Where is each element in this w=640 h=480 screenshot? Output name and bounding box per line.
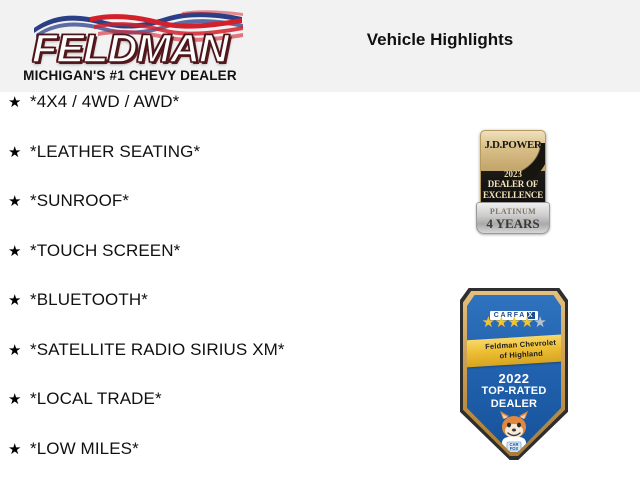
list-item: ★ *LOCAL TRADE* [8,389,338,439]
list-item: ★ *LOW MILES* [8,439,338,480]
list-item: ★ *SUNROOF* [8,191,338,241]
star-filled-icon: ★ [495,314,508,331]
list-item: ★ *LEATHER SEATING* [8,142,338,192]
vehicle-highlights-list: ★ *4X4 / 4WD / AWD* ★ *LEATHER SEATING* … [8,92,338,480]
list-item-label: *BLUETOOTH* [30,290,148,310]
carfax-dealer-name: Feldman Chevrolet of Highland [467,336,561,363]
list-item-label: *SUNROOF* [30,191,129,211]
star-bullet-icon: ★ [8,293,30,308]
svg-text:FOX: FOX [510,446,519,451]
jd-power-award-title: DEALER OF EXCELLENCE [481,179,545,201]
carfax-rank-line2: DEALER [467,398,561,411]
carfax-year: 2022 [467,371,561,386]
dealer-logo[interactable]: FELDMAN MICHIGAN'S #1 CHEVY DEALER [14,6,246,86]
jd-power-award-line1: DEALER OF [481,179,545,190]
list-item: ★ *SATELLITE RADIO SIRIUS XM* [8,340,338,390]
jd-power-brand: J.D.POWER [481,139,545,151]
list-item-label: *LOCAL TRADE* [30,389,162,409]
list-item-label: *SATELLITE RADIO SIRIUS XM* [30,340,285,360]
jd-power-year: 2023 [481,169,545,179]
carfax-star-rating: ★★★★★ [467,315,561,331]
list-item: ★ *TOUCH SCREEN* [8,241,338,291]
dealer-logo-name: FELDMAN [9,28,250,70]
list-item-label: *4X4 / 4WD / AWD* [30,92,179,112]
list-item: ★ *4X4 / 4WD / AWD* [8,92,338,142]
star-bullet-icon: ★ [8,244,30,259]
list-item-label: *LEATHER SEATING* [30,142,200,162]
list-item: ★ *BLUETOOTH* [8,290,338,340]
vehicle-highlights-page: FELDMAN MICHIGAN'S #1 CHEVY DEALER Vehic… [0,0,640,480]
list-item-label: *TOUCH SCREEN* [30,241,180,261]
jd-power-tier: PLATINUM [477,207,549,216]
dealer-logo-tagline: MICHIGAN'S #1 CHEVY DEALER [14,68,246,83]
star-empty-icon: ★ [533,314,546,331]
star-bullet-icon: ★ [8,343,30,358]
carfax-rank: TOP-RATED DEALER [467,385,561,411]
list-item-label: *LOW MILES* [30,439,139,459]
star-bullet-icon: ★ [8,392,30,407]
carfax-rank-line1: TOP-RATED [467,385,561,398]
carfax-dealer-ribbon: Feldman Chevrolet of Highland [467,333,561,367]
page-title: Vehicle Highlights [290,30,590,50]
jd-power-plaque: J.D.POWER 2023 DEALER OF EXCELLENCE [480,130,546,208]
star-filled-icon: ★ [482,314,495,331]
star-bullet-icon: ★ [8,442,30,457]
jd-power-award-line2: EXCELLENCE [481,190,545,201]
jd-power-duration: 4 YEARS [477,216,549,232]
jd-power-tier-banner: PLATINUM 4 YEARS [476,202,550,234]
jd-power-award-badge: J.D.POWER 2023 DEALER OF EXCELLENCE PLAT… [476,130,550,236]
carfax-top-rated-dealer-badge: CARFAX ★★★★★ Feldman Chevrolet of Highla… [460,288,568,460]
star-bullet-icon: ★ [8,95,30,110]
star-filled-icon: ★ [520,314,533,331]
star-bullet-icon: ★ [8,145,30,160]
star-filled-icon: ★ [508,314,521,331]
star-bullet-icon: ★ [8,194,30,209]
